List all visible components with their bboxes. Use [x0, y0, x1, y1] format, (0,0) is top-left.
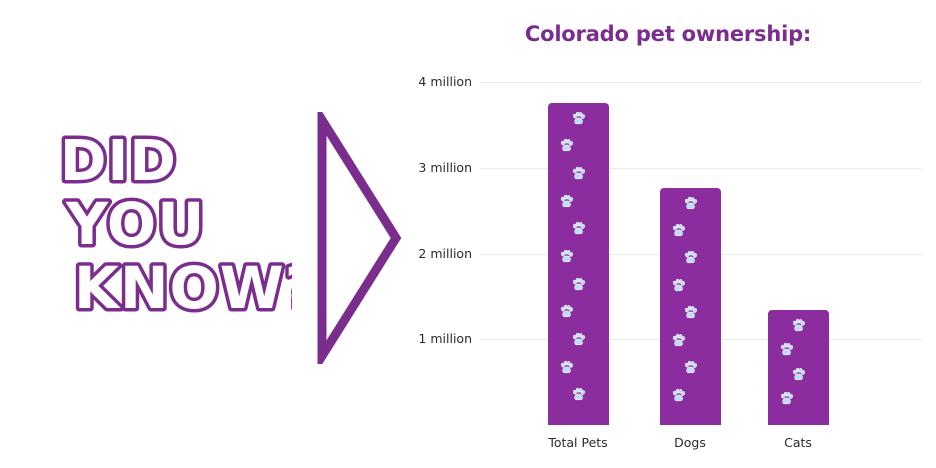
- gridline: [480, 168, 922, 169]
- paw-print-icon: [779, 342, 794, 357]
- triangle-outline-path: [322, 120, 396, 356]
- y-axis-tick-label: 3 million: [400, 160, 472, 175]
- paw-print-icon: [779, 391, 794, 406]
- x-axis-tick-label: Dogs: [630, 435, 750, 450]
- paw-print-icon: [571, 387, 586, 402]
- paw-print-icon: [683, 360, 698, 375]
- paw-print-icon: [571, 111, 586, 126]
- callout-line-3: KNOW?: [74, 254, 292, 320]
- bar-cats: [768, 310, 829, 425]
- paw-print-icon: [571, 166, 586, 181]
- paw-print-icon: [559, 304, 574, 319]
- paw-print-icon: [559, 194, 574, 209]
- chart-plot-area: 1 million2 million3 million4 million Tot…: [400, 70, 936, 450]
- paw-print-icon: [671, 388, 686, 403]
- paw-print-icon: [559, 249, 574, 264]
- gridline: [480, 82, 922, 83]
- pet-ownership-chart: Colorado pet ownership: 1 million2 milli…: [400, 0, 936, 468]
- chart-title: Colorado pet ownership:: [400, 22, 936, 46]
- paw-print-icon: [683, 196, 698, 211]
- paw-print-icon: [559, 360, 574, 375]
- paw-print-icon: [571, 277, 586, 292]
- paw-print-icon: [683, 250, 698, 265]
- callout-line-2: YOU: [65, 190, 205, 258]
- paw-print-icon: [671, 278, 686, 293]
- y-axis-tick-label: 4 million: [400, 74, 472, 89]
- paw-print-icon: [683, 305, 698, 320]
- triangle-right-outline-icon: [300, 112, 408, 364]
- bar-total-pets: [548, 103, 609, 425]
- callout-line-1: DID: [60, 129, 177, 194]
- paw-print-icon: [671, 333, 686, 348]
- paw-print-icon: [559, 138, 574, 153]
- infographic-canvas: DID YOU KNOW? Colorado pet ownership: 1 …: [0, 0, 936, 468]
- x-axis-tick-label: Total Pets: [518, 435, 638, 450]
- x-axis-tick-label: Cats: [738, 435, 858, 450]
- did-you-know-callout: DID YOU KNOW?: [52, 128, 292, 320]
- paw-print-icon: [791, 318, 806, 333]
- paw-print-icon: [671, 223, 686, 238]
- paw-print-icon: [571, 332, 586, 347]
- y-axis-tick-label: 2 million: [400, 246, 472, 261]
- bar-dogs: [660, 188, 721, 425]
- y-axis-tick-label: 1 million: [400, 331, 472, 346]
- paw-print-icon: [791, 367, 806, 382]
- paw-print-icon: [571, 221, 586, 236]
